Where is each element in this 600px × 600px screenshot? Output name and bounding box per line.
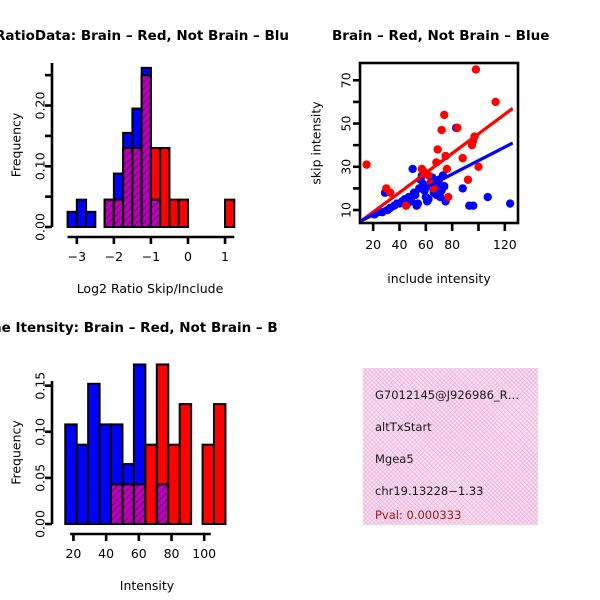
svg-text:0.20: 0.20 — [33, 92, 48, 120]
histogram-bar-overlap — [142, 75, 151, 227]
histogram-bar — [179, 200, 188, 227]
info-line-event: altTxStart — [375, 420, 432, 434]
scatter-point-brain — [464, 176, 472, 184]
scatter-title: Brain – Red, Not Brain – Blue — [332, 28, 549, 44]
scatter-point-not-brain — [424, 195, 432, 203]
svg-text:0.00: 0.00 — [33, 213, 48, 241]
scatter-point-brain — [362, 160, 370, 168]
svg-text:70: 70 — [339, 72, 354, 88]
scatter-point-brain — [443, 165, 451, 173]
svg-text:60: 60 — [418, 237, 434, 252]
histogram-bar — [68, 212, 77, 227]
histogram-bar — [145, 445, 156, 524]
gene-info-box: G7012145@J926986_R… altTxStart Mgea5 chr… — [363, 368, 538, 525]
scatter-point-not-brain — [506, 199, 514, 207]
histogram-bar — [86, 212, 95, 227]
histogram-bar — [225, 200, 234, 227]
fit-line-brain — [361, 108, 512, 220]
svg-text:0.00: 0.00 — [33, 510, 48, 538]
scatter-point-brain — [444, 193, 452, 201]
histogram-bar-overlap — [123, 148, 132, 227]
ratio-histogram-svg: 0.000.100.20Frequency−3−2−101Log2 Ratio … — [0, 55, 300, 305]
histogram-bar-overlap — [157, 484, 168, 524]
svg-text:80: 80 — [164, 546, 180, 561]
svg-text:40: 40 — [98, 546, 114, 561]
svg-text:0.05: 0.05 — [33, 464, 48, 492]
histogram-bar — [169, 200, 178, 227]
scatter-point-brain — [472, 65, 480, 73]
scatter-point-not-brain — [469, 202, 477, 210]
svg-text:Frequency: Frequency — [9, 420, 24, 485]
svg-text:10: 10 — [339, 202, 354, 218]
histogram-bar-overlap — [134, 484, 145, 524]
info-line-locus: chr19.13228−1.33 — [375, 484, 483, 498]
scatter-point-brain — [453, 124, 461, 132]
histogram-bar — [77, 200, 86, 227]
ratio-histogram-title: RatioData: Brain – Red, Not Brain – Blu — [0, 28, 289, 44]
svg-text:0.15: 0.15 — [33, 372, 48, 400]
intensity-histogram-svg: 0.000.050.100.15Frequency20406080100Inte… — [0, 348, 300, 600]
info-line-gene: Mgea5 — [375, 452, 414, 466]
scatter-point-not-brain — [459, 184, 467, 192]
svg-text:30: 30 — [339, 159, 354, 175]
histogram-bar — [203, 445, 214, 524]
histogram-bar — [65, 424, 76, 524]
histogram-bar — [180, 404, 191, 524]
svg-text:Log2 Ratio Skip/Include: Log2 Ratio Skip/Include — [77, 281, 224, 296]
info-line-pval: Pval: 0.000333 — [375, 508, 461, 522]
intensity-histogram-title: ne Itensity: Brain – Red, Not Brain – B — [0, 320, 278, 336]
histogram-bar-overlap — [114, 200, 123, 227]
svg-text:Intensity: Intensity — [120, 578, 175, 593]
histogram-bar — [160, 148, 169, 227]
intensity-histogram-panel: 0.000.050.100.15Frequency20406080100Inte… — [0, 348, 300, 600]
histogram-bar — [88, 384, 99, 524]
scatter-point-brain — [491, 98, 499, 106]
scatter-point-brain — [402, 202, 410, 210]
scatter-point-not-brain — [414, 199, 422, 207]
histogram-bar-overlap — [122, 484, 133, 524]
histogram-bar-overlap — [151, 200, 160, 227]
scatter-point-brain — [440, 111, 448, 119]
svg-text:0.10: 0.10 — [33, 152, 48, 180]
scatter-panel: 10305070skip intensity20406080120include… — [300, 55, 600, 305]
histogram-bar — [168, 445, 179, 524]
svg-text:0: 0 — [184, 249, 192, 264]
histogram-bar-overlap — [132, 148, 141, 227]
ratio-histogram-panel: 0.000.100.20Frequency−3−2−101Log2 Ratio … — [0, 55, 300, 305]
fit-line-not-brain — [361, 143, 512, 221]
scatter-point-not-brain — [484, 193, 492, 201]
svg-text:100: 100 — [192, 546, 216, 561]
histogram-bar — [100, 424, 111, 524]
svg-text:50: 50 — [339, 116, 354, 132]
scatter-point-brain — [437, 126, 445, 134]
scatter-point-not-brain — [408, 165, 416, 173]
info-line-probe: G7012145@J926986_R… — [375, 388, 519, 402]
scatter-point-brain — [433, 145, 441, 153]
svg-text:−1: −1 — [142, 249, 160, 264]
scatter-point-not-brain — [440, 182, 448, 190]
svg-text:120: 120 — [493, 237, 517, 252]
svg-text:20: 20 — [365, 237, 381, 252]
svg-text:−3: −3 — [68, 249, 86, 264]
svg-text:Frequency: Frequency — [9, 112, 24, 177]
histogram-bar — [77, 445, 88, 524]
svg-text:60: 60 — [131, 546, 147, 561]
svg-text:0.10: 0.10 — [33, 418, 48, 446]
svg-text:−2: −2 — [105, 249, 123, 264]
svg-text:20: 20 — [65, 546, 81, 561]
scatter-svg: 10305070skip intensity20406080120include… — [300, 55, 600, 305]
svg-text:80: 80 — [444, 237, 460, 252]
histogram-bar-overlap — [105, 200, 114, 227]
svg-text:include intensity: include intensity — [387, 271, 491, 286]
scatter-point-brain — [459, 154, 467, 162]
svg-text:40: 40 — [392, 237, 408, 252]
histogram-bar-overlap — [111, 484, 122, 524]
histogram-bar — [214, 404, 225, 524]
svg-text:skip intensity: skip intensity — [309, 101, 324, 185]
svg-text:1: 1 — [221, 249, 229, 264]
